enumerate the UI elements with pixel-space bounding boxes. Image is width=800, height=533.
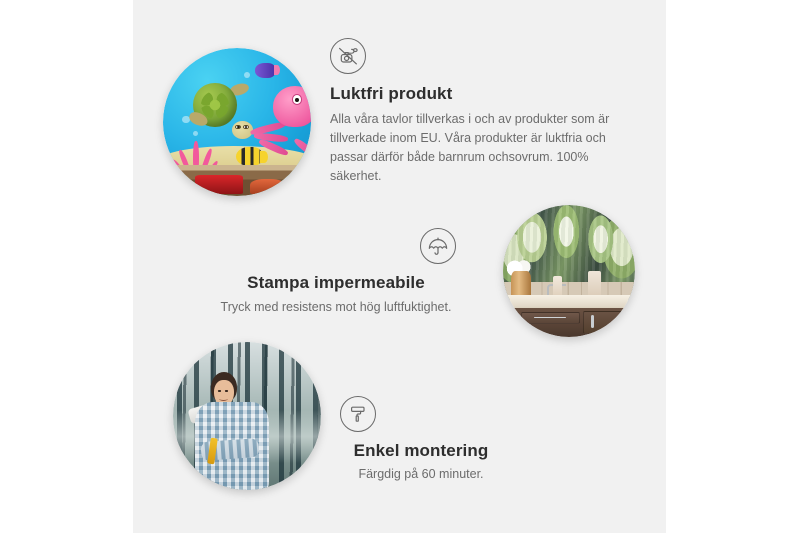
page-root: Luktfri produkt Alla våra tavlor tillver… [0,0,800,533]
feature-body: Tryck med resistens mot hög luftfuktighe… [205,298,467,317]
octopus-icon [255,86,311,154]
bathroom-botanical-photo [503,205,635,337]
turtle-icon [188,81,250,140]
underwater-cartoon-photo [163,48,311,196]
feature-block-easy-assembly: Enkel montering Färgdig på 60 minuter. [305,396,537,484]
feature-title: Enkel montering [305,440,537,461]
feature-body: Alla våra tavlor tillverkas i och av pro… [330,110,630,185]
paint-roller-icon [340,396,376,432]
painter-person [194,372,271,490]
feature-title: Luktfri produkt [330,83,630,104]
feature-block-odourless: Luktfri produkt Alla våra tavlor tillver… [330,38,630,185]
painter-forest-photo [173,342,321,490]
bubble-icon [244,72,250,78]
no-odour-perfume-icon [330,38,366,74]
umbrella-icon [420,228,456,264]
feature-body: Färgdig på 60 minuter. [305,465,537,484]
foreground-shelf [163,165,311,196]
vanity-cabinet [511,308,635,337]
fish-icon [255,63,276,78]
fish-icon [236,147,263,166]
feature-title: Stampa impermeabile [205,272,467,293]
feature-block-waterproof: Stampa impermeabile Tryck med resistens … [205,228,467,317]
